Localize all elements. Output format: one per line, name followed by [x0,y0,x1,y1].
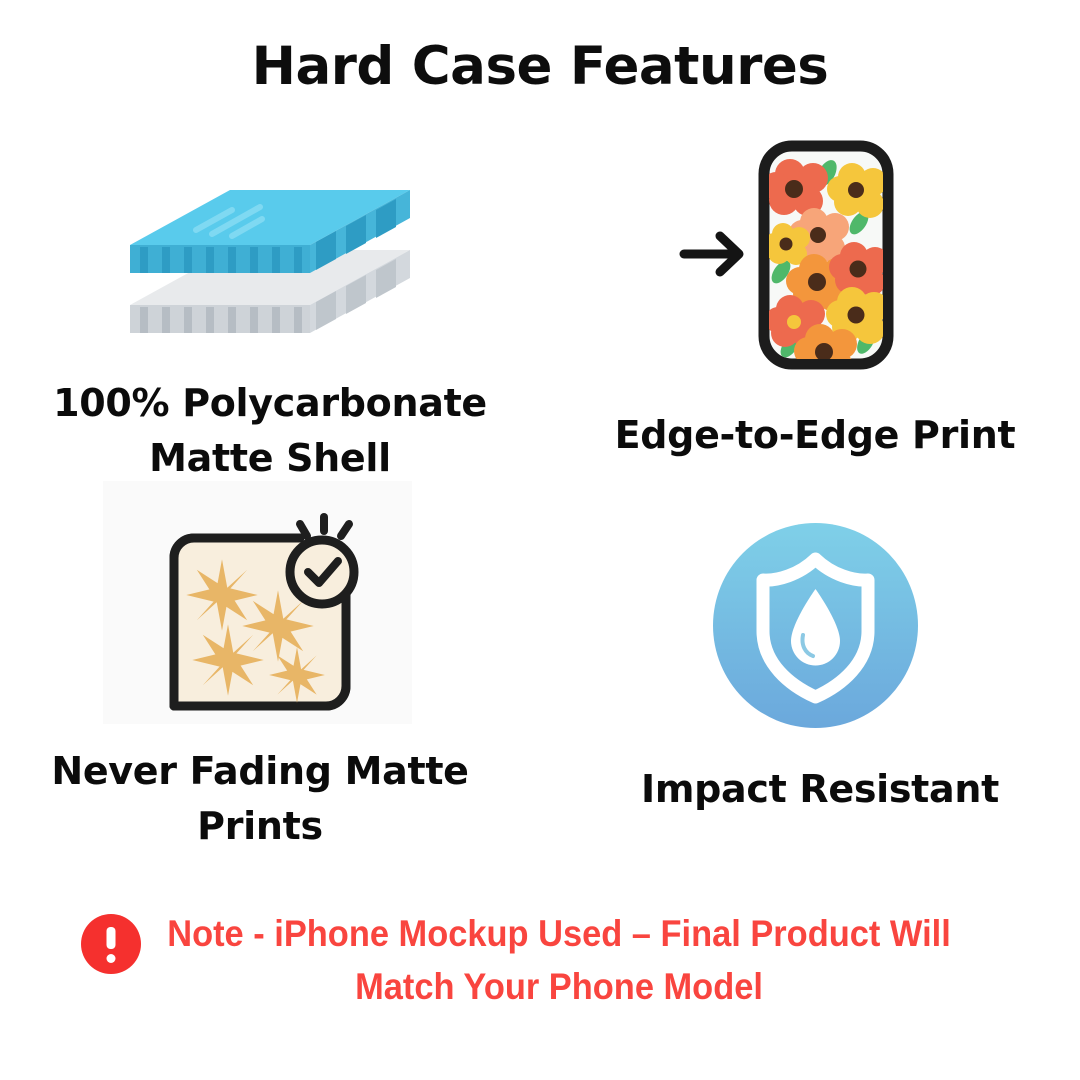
note-banner: Note - iPhone Mockup Used – Final Produc… [0,908,1080,1013]
exclamation-stem [107,927,116,949]
matte-print-check-icon [150,510,380,725]
feature-label-edge-to-edge: Edge-to-Edge Print [580,408,1050,463]
feature-icon-impact-resistant [713,523,918,728]
exclamation-circle-icon [81,914,141,974]
feature-icon-never-fading [150,510,380,725]
check-circle-badge-icon [290,517,354,604]
note-text: Note - iPhone Mockup Used – Final Produc… [150,908,968,1013]
feature-label-never-fading: Never Fading Matte Prints [10,744,510,854]
exclamation-dot [107,954,116,963]
infographic-page: Hard Case Features [0,0,1080,1080]
layered-shell-icon [120,170,420,360]
feature-icon-polycarbonate [120,170,420,360]
page-title: Hard Case Features [0,36,1080,97]
feature-label-polycarbonate: 100% Polycarbonate Matte Shell [10,376,530,486]
arrow-right-icon [684,236,739,272]
feature-icon-edge-to-edge [680,130,940,380]
shield-droplet-icon [713,523,918,728]
floral-phone-case-icon [680,130,940,380]
feature-label-impact-resistant: Impact Resistant [590,762,1050,817]
